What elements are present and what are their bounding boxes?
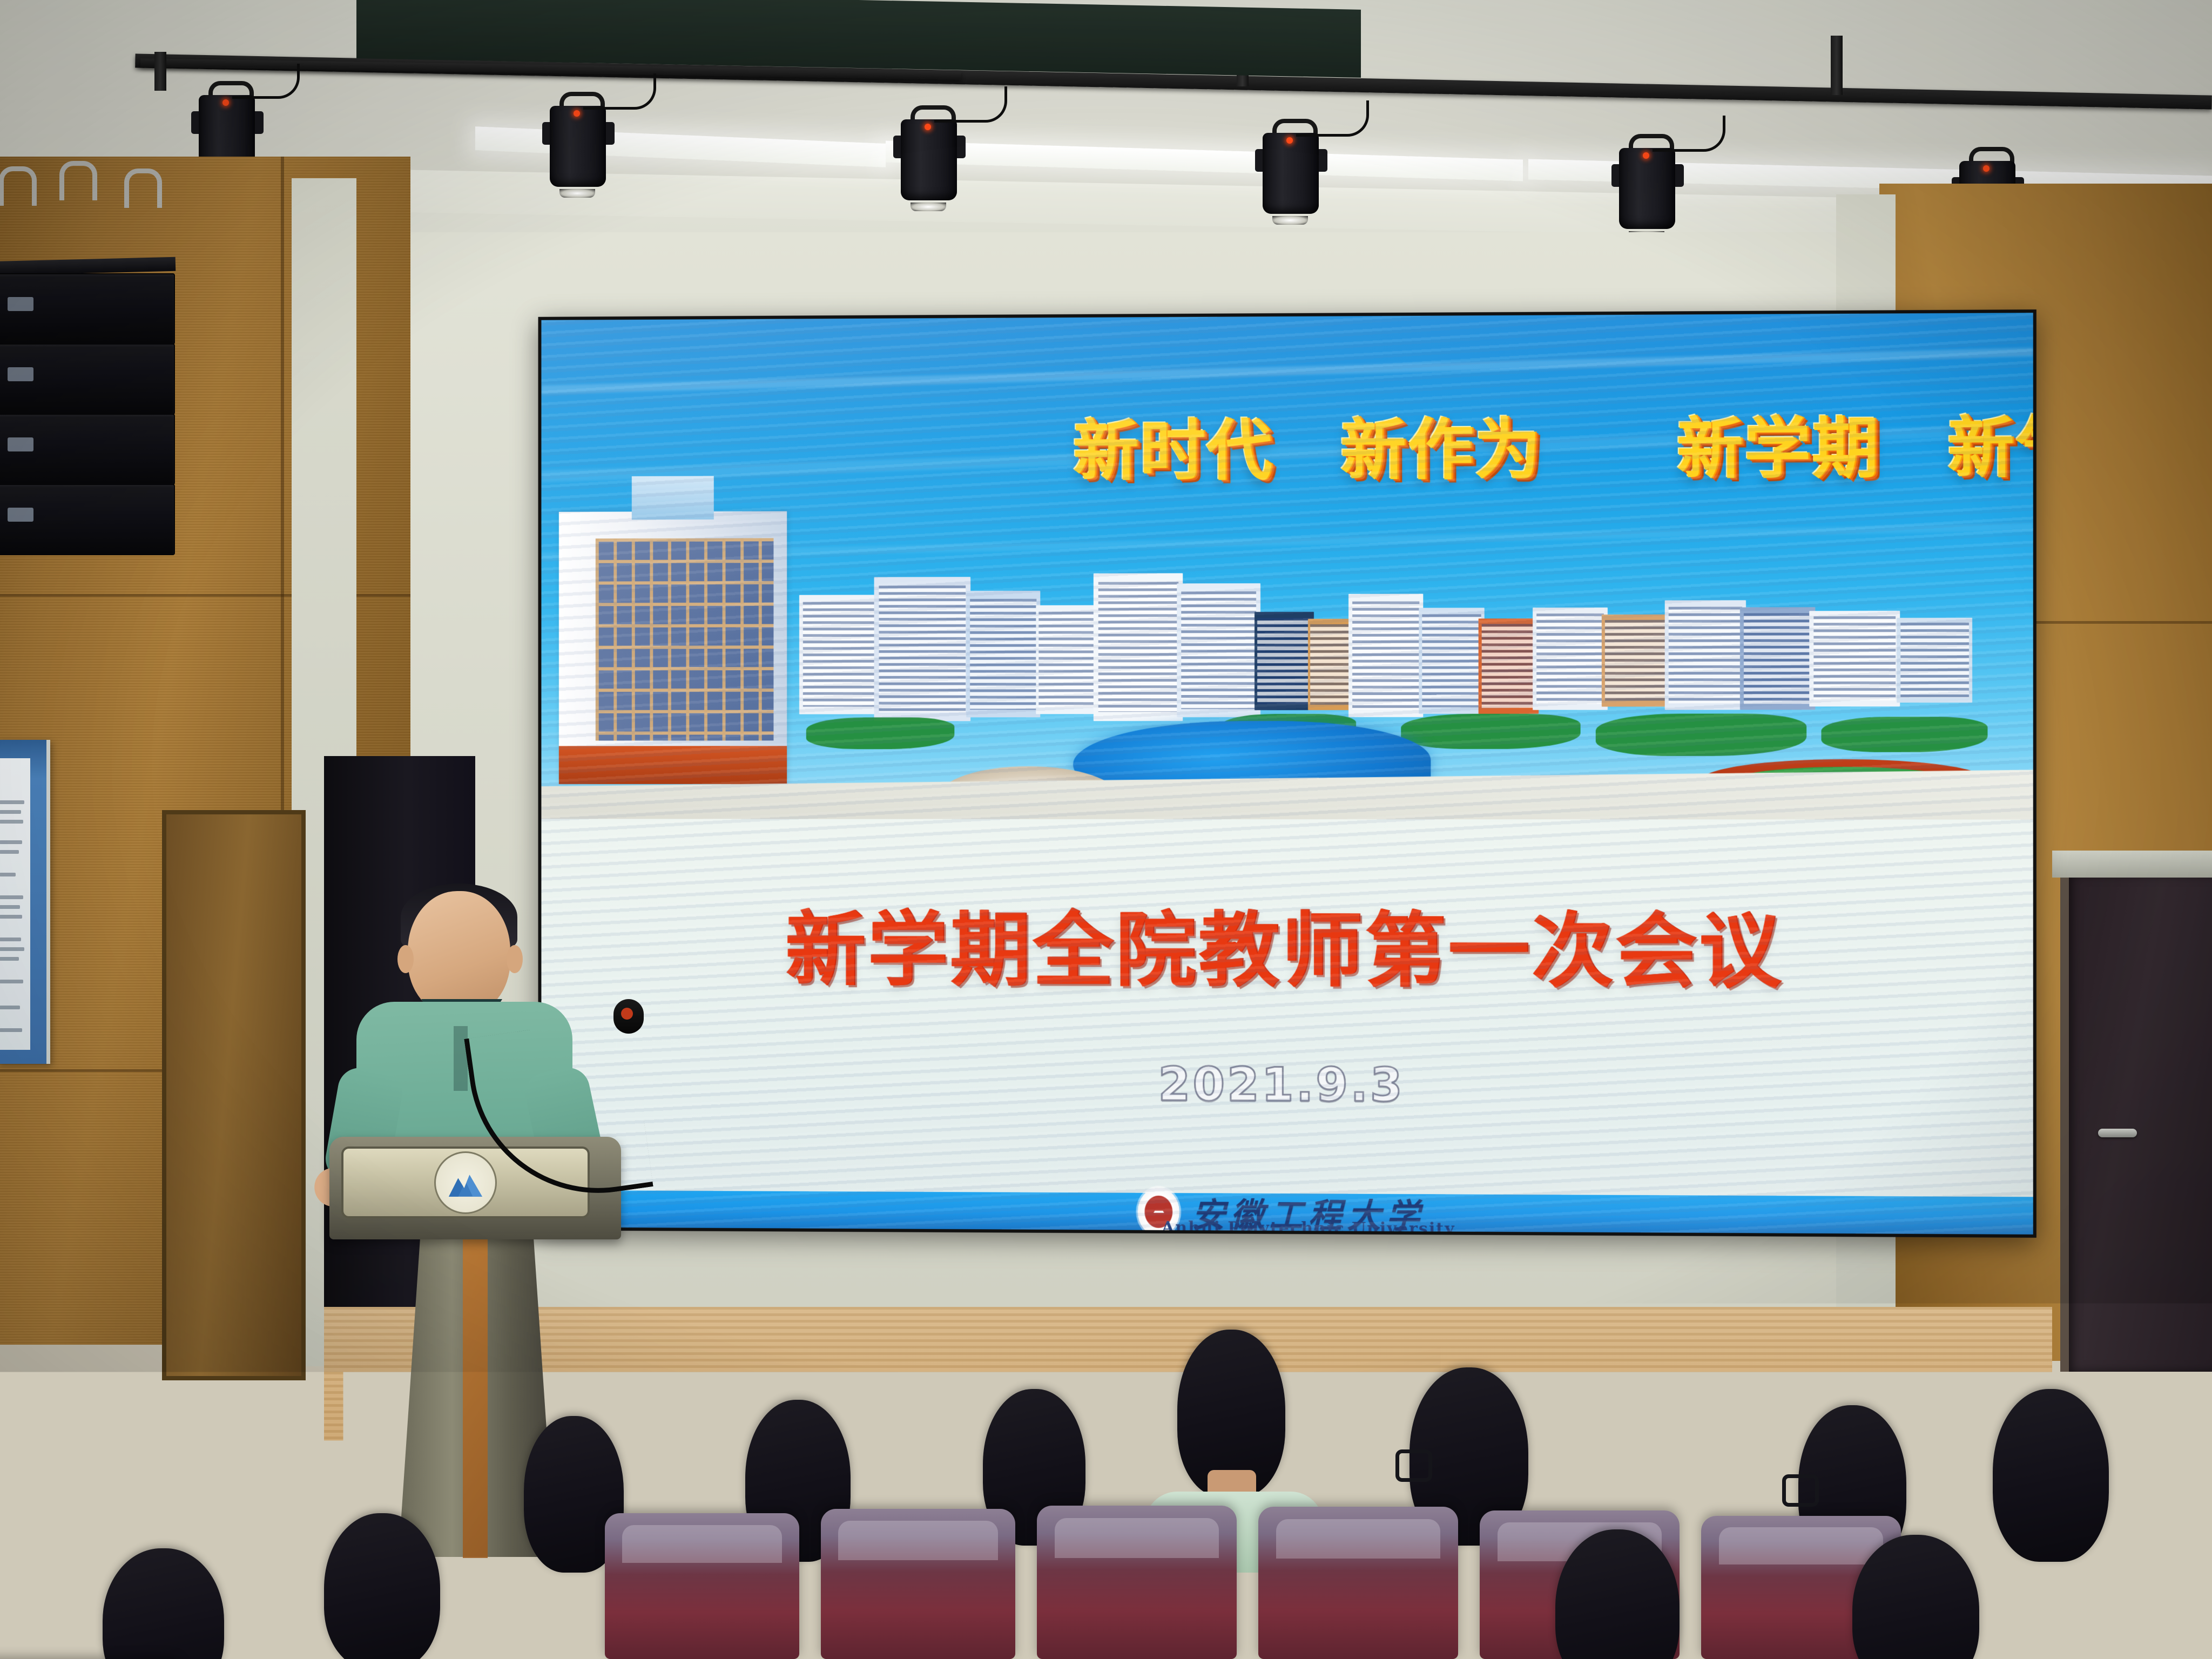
campus-greenery <box>806 717 954 749</box>
speaker-hang-bracket <box>124 168 162 208</box>
campus-greenery <box>1596 713 1806 756</box>
campus-main-tower <box>559 511 787 784</box>
speaker-brand-badge <box>8 437 33 451</box>
campus-building <box>1809 611 1900 706</box>
notice-text-line <box>0 810 21 814</box>
par-indicator-led <box>574 110 580 117</box>
campus-building <box>1094 573 1183 721</box>
gooseneck-microphone <box>475 1004 659 1199</box>
notice-text-line <box>0 873 16 876</box>
presenter-head <box>408 891 510 1015</box>
slide-main-title: 新学期全院教师第一次会议 <box>785 885 1783 1003</box>
campus-building <box>1308 618 1353 710</box>
power-cable-5 <box>1653 116 1725 152</box>
line-array-speaker-left <box>0 194 184 529</box>
notice-text-line <box>0 1006 20 1009</box>
par-body <box>550 106 606 187</box>
presenter-ear-right <box>507 945 523 973</box>
university-name-en: Anhui Polytechnic University <box>1162 1218 1455 1235</box>
power-cable-1 <box>232 64 300 99</box>
audience-member <box>324 1513 440 1659</box>
campus-greenery <box>1822 717 1988 752</box>
auditorium-seat[interactable] <box>1852 1648 2074 1659</box>
notice-text-line <box>0 938 21 941</box>
auditorium-seat[interactable] <box>432 1637 648 1659</box>
auditorium-seat[interactable] <box>200 1651 416 1659</box>
truss-hanger-right <box>1831 36 1843 95</box>
wall-notice-board-left[interactable] <box>0 740 50 1064</box>
presenter-shirt-placket <box>454 1026 468 1091</box>
auditorium-seat[interactable] <box>1139 1629 1361 1659</box>
campus-building <box>1533 608 1608 710</box>
auditorium-seat[interactable] <box>2052 1654 2212 1659</box>
par-body <box>1263 133 1319 214</box>
door-frame-top-right <box>2052 851 2212 878</box>
truss-hanger-left <box>154 52 166 91</box>
auditorium-scene: 新时代 新作为 新学期 新气象 <box>0 0 2212 1659</box>
par-body <box>901 119 957 200</box>
speaker-hang-bracket <box>59 161 97 200</box>
audience-glasses-icon <box>1782 1474 1819 1507</box>
tower-window-grid <box>595 538 773 740</box>
campus-building <box>1419 608 1485 713</box>
audience-glasses-icon <box>1395 1449 1432 1482</box>
par-body <box>1619 148 1675 229</box>
door-handle-icon[interactable] <box>2098 1129 2137 1137</box>
speaker-brand-badge <box>8 508 33 522</box>
slide-footer-bar: 安徽工程大学 Anhui Polytechnic University <box>541 1190 2033 1235</box>
tower-podium-base <box>559 746 787 784</box>
slide-body: 新学期全院教师第一次会议 2021.9.3 安徽工程大学 Anhui Polyt… <box>541 819 2033 1234</box>
power-cable-3 <box>934 86 1007 123</box>
par-lens <box>1272 216 1308 225</box>
sky-streak <box>542 348 2033 394</box>
par-lens <box>911 203 946 211</box>
par-indicator-led <box>1286 137 1293 144</box>
notice-text-line <box>0 850 19 854</box>
notice-text-line <box>0 947 24 951</box>
slide-headline: 新时代 新作为 新学期 新气象 <box>1073 393 2033 493</box>
auditorium-seat[interactable] <box>664 1629 886 1659</box>
microphone-capsule <box>613 999 644 1034</box>
speaker-hang-bracket <box>0 166 37 206</box>
campus-building <box>1177 584 1260 718</box>
campus-building <box>1479 618 1539 714</box>
auditorium-door-left[interactable] <box>162 810 306 1380</box>
auditorium-seat[interactable] <box>902 1627 1123 1659</box>
presenter-ear-left <box>397 945 414 973</box>
auditorium-seat[interactable] <box>1377 1635 1599 1659</box>
campus-building <box>1665 600 1746 710</box>
campus-building <box>1897 618 1973 703</box>
tower-rooftop <box>632 476 714 520</box>
campus-building <box>1602 615 1671 706</box>
campus-greenery <box>1401 713 1581 748</box>
par-indicator-led <box>1643 152 1649 159</box>
slide-date: 2021.9.3 <box>1158 1057 1405 1112</box>
notice-text-line <box>0 957 19 961</box>
notice-text-line <box>0 840 22 844</box>
auditorium-door-right[interactable] <box>2060 875 2212 1372</box>
auditorium-seat[interactable] <box>1615 1642 1836 1659</box>
speaker-module-3 <box>0 414 175 485</box>
notice-text-line <box>0 800 24 804</box>
campus-building <box>1348 594 1423 717</box>
led-display-screen[interactable]: 新时代 新作为 新学期 新气象 <box>538 309 2036 1238</box>
campus-building <box>1255 611 1314 710</box>
power-cable-2 <box>583 73 656 110</box>
audience-member <box>1993 1389 2109 1562</box>
campus-building <box>799 595 880 714</box>
speaker-module-2 <box>0 343 175 415</box>
speaker-brand-badge <box>8 367 33 381</box>
par-indicator-led <box>925 124 931 130</box>
notice-text-line <box>0 905 20 909</box>
speaker-brand-badge <box>8 297 33 311</box>
campus-building <box>874 577 970 721</box>
speaker-module-1 <box>0 273 175 345</box>
par-indicator-led <box>1983 165 1990 172</box>
microphone-gooseneck <box>464 1016 653 1210</box>
slide-banner: 新时代 新作为 新学期 新气象 <box>541 313 2033 820</box>
audience-area <box>0 1335 2212 1659</box>
notice-board-sheet <box>0 758 30 1050</box>
notice-text-line <box>0 1028 22 1032</box>
notice-text-line <box>0 820 23 824</box>
par-lens <box>559 189 595 198</box>
notice-text-line <box>0 895 23 899</box>
campus-building <box>1036 605 1098 714</box>
campus-panorama-illustration <box>541 465 2033 820</box>
presentation-slide: 新时代 新作为 新学期 新气象 <box>541 313 2033 1235</box>
campus-building <box>966 591 1040 717</box>
speaker-module-4 <box>0 484 175 555</box>
audience-member <box>103 1548 224 1659</box>
par-indicator-led <box>222 99 229 106</box>
campus-building <box>1740 607 1816 710</box>
notice-text-line <box>0 980 23 983</box>
power-cable-4 <box>1296 100 1369 137</box>
notice-text-line <box>0 915 22 919</box>
